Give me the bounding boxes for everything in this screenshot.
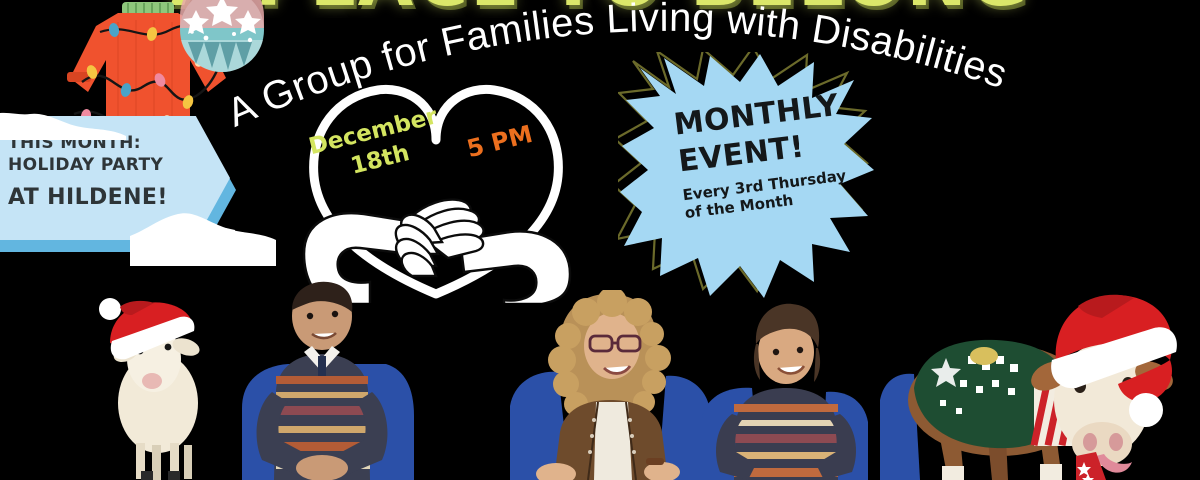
event-poster: A PLACE TO BELONG A Group for Families L… — [0, 0, 1200, 480]
photo-row — [0, 270, 1200, 480]
photo-sheep-in-santa-hat — [96, 285, 226, 480]
starburst-text-block: MONTHLY EVENT! Every 3rd Thursday of the… — [672, 86, 865, 223]
photo-calf-in-christmas-sweater — [880, 280, 1200, 480]
photo-boy-in-fairisle-sweater — [236, 280, 416, 480]
photo-child-in-striped-sweater — [700, 300, 870, 480]
banner-text-block: THIS MONTH: HOLIDAY PARTY AT HILDENE! — [8, 132, 194, 213]
banner-line-1: THIS MONTH: — [8, 132, 194, 154]
this-month-banner: THIS MONTH: HOLIDAY PARTY AT HILDENE! — [0, 116, 236, 248]
banner-line-2: HOLIDAY PARTY — [8, 154, 194, 176]
banner-line-3: AT HILDENE! — [8, 184, 194, 213]
photo-woman-with-glasses — [510, 290, 710, 480]
christmas-ornament-icon — [172, 0, 272, 82]
